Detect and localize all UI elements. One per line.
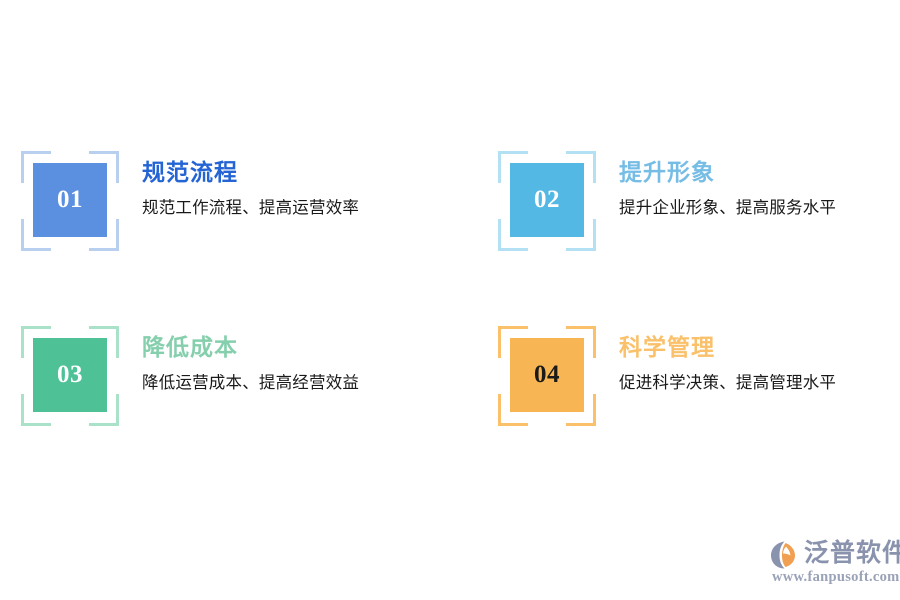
number-badge-04: 04 [498,326,596,426]
number-badge-02: 02 [498,151,596,251]
badge-number: 04 [510,338,584,412]
feature-text-block: 降低成本降低运营成本、提高经营效益 [142,320,432,395]
feature-text-block: 提升形象提升企业形象、提高服务水平 [619,145,900,220]
number-badge-01: 01 [21,151,119,251]
badge-number: 03 [33,338,107,412]
feature-card-grid: 01规范流程规范工作流程、提高运营效率02提升形象提升企业形象、提高服务水平03… [0,0,900,600]
feature-card-01: 01规范流程规范工作流程、提高运营效率 [12,145,432,265]
feature-title: 降低成本 [142,332,432,362]
fanpu-swoosh-logo-icon [770,540,802,570]
feature-title: 提升形象 [619,157,900,187]
feature-card-04: 04科学管理促进科学决策、提高管理水平 [489,320,900,440]
brand-logo: 泛普软件 www.fanpusoft.com [770,538,890,586]
feature-text-block: 规范流程规范工作流程、提高运营效率 [142,145,432,220]
feature-text-block: 科学管理促进科学决策、提高管理水平 [619,320,900,395]
feature-card-02: 02提升形象提升企业形象、提高服务水平 [489,145,900,265]
badge-number: 02 [510,163,584,237]
feature-description: 促进科学决策、提高管理水平 [619,371,900,395]
logo-company-name: 泛普软件 [804,538,900,568]
feature-title: 规范流程 [142,157,432,187]
feature-card-03: 03降低成本降低运营成本、提高经营效益 [12,320,432,440]
feature-description: 降低运营成本、提高经营效益 [142,371,432,395]
feature-description: 规范工作流程、提高运营效率 [142,196,432,220]
feature-title: 科学管理 [619,332,900,362]
number-badge-03: 03 [21,326,119,426]
badge-number: 01 [33,163,107,237]
logo-website-url: www.fanpusoft.com [772,569,900,586]
feature-description: 提升企业形象、提高服务水平 [619,196,900,220]
